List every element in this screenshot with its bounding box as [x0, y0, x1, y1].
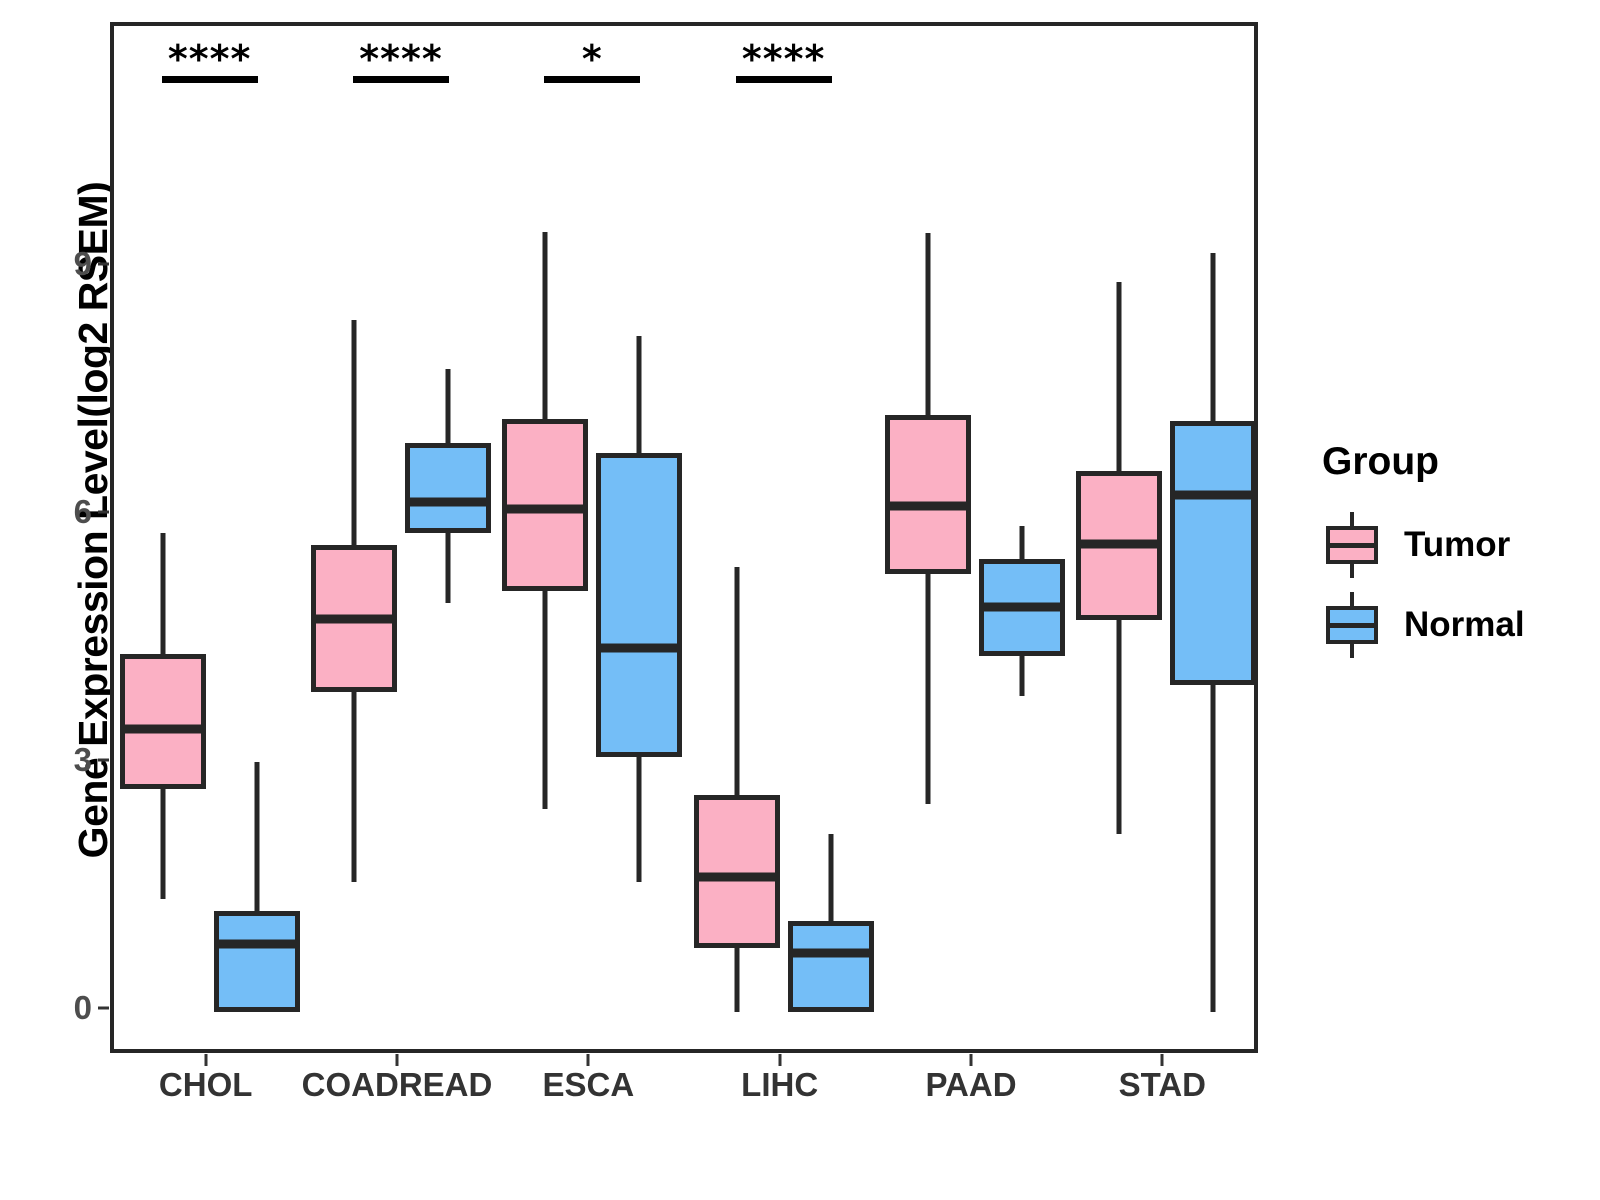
legend-item-normal[interactable]: Normal [1322, 588, 1582, 662]
significance-label: **** [742, 40, 826, 78]
x-tick-mark [396, 1054, 399, 1066]
legend-median-line [1326, 623, 1378, 628]
x-tick-label-coadread: COADREAD [302, 1066, 493, 1104]
legend-items: TumorNormal [1322, 508, 1582, 662]
boxplot-box [405, 443, 491, 532]
x-tick-label-chol: CHOL [159, 1066, 253, 1104]
legend-swatch-normal [1322, 590, 1382, 660]
x-tick-label-esca: ESCA [542, 1066, 634, 1104]
plot-area: ************* [114, 26, 1254, 1049]
y-tick-mark [98, 1007, 109, 1010]
significance-label: **** [359, 40, 443, 78]
boxplot-median-line [1170, 490, 1256, 499]
boxplot-median-line [214, 940, 300, 949]
y-tick-mark [98, 511, 109, 514]
boxplot-figure: Gene Expression Level(log2 RSEM) 0369 CH… [0, 0, 1600, 1200]
boxplot-median-line [120, 725, 206, 734]
legend-item-tumor[interactable]: Tumor [1322, 508, 1582, 582]
boxplot-box [694, 795, 780, 947]
boxplot-median-line [502, 504, 588, 513]
boxplot-box [885, 415, 971, 574]
x-tick-mark [778, 1054, 781, 1066]
boxplot-median-line [885, 502, 971, 511]
y-tick-label: 0 [52, 989, 92, 1027]
boxplot-median-line [979, 602, 1065, 611]
boxplot-median-line [694, 873, 780, 882]
legend-swatch-tumor [1322, 510, 1382, 580]
x-tick-label-stad: STAD [1119, 1066, 1206, 1104]
boxplot-box [1170, 421, 1256, 686]
x-tick-mark [1161, 1054, 1164, 1066]
y-tick-label: 6 [52, 493, 92, 531]
boxplot-box [788, 921, 874, 1012]
boxplot-median-line [1076, 540, 1162, 549]
legend-median-line [1326, 543, 1378, 548]
boxplot-median-line [596, 644, 682, 653]
boxplot-box [214, 911, 300, 1012]
significance-label: * [582, 40, 603, 78]
plot-panel: ************* [110, 22, 1258, 1053]
legend: Group TumorNormal [1322, 440, 1582, 668]
boxplot-box [120, 654, 206, 789]
legend-whisker-bottom [1350, 642, 1354, 658]
legend-label-normal: Normal [1404, 605, 1525, 645]
y-tick-label: 3 [52, 741, 92, 779]
boxplot-median-line [311, 615, 397, 624]
y-tick-mark [98, 263, 109, 266]
x-tick-mark [204, 1054, 207, 1066]
x-tick-mark [970, 1054, 973, 1066]
y-tick-label: 9 [52, 245, 92, 283]
boxplot-median-line [405, 497, 491, 506]
legend-title: Group [1322, 440, 1582, 484]
boxplot-box [596, 453, 682, 757]
y-tick-mark [98, 759, 109, 762]
boxplot-median-line [788, 949, 874, 958]
significance-label: **** [168, 40, 252, 78]
x-tick-label-paad: PAAD [925, 1066, 1016, 1104]
legend-label-tumor: Tumor [1404, 525, 1510, 565]
x-tick-mark [587, 1054, 590, 1066]
legend-whisker-bottom [1350, 562, 1354, 578]
x-tick-label-lihc: LIHC [741, 1066, 818, 1104]
